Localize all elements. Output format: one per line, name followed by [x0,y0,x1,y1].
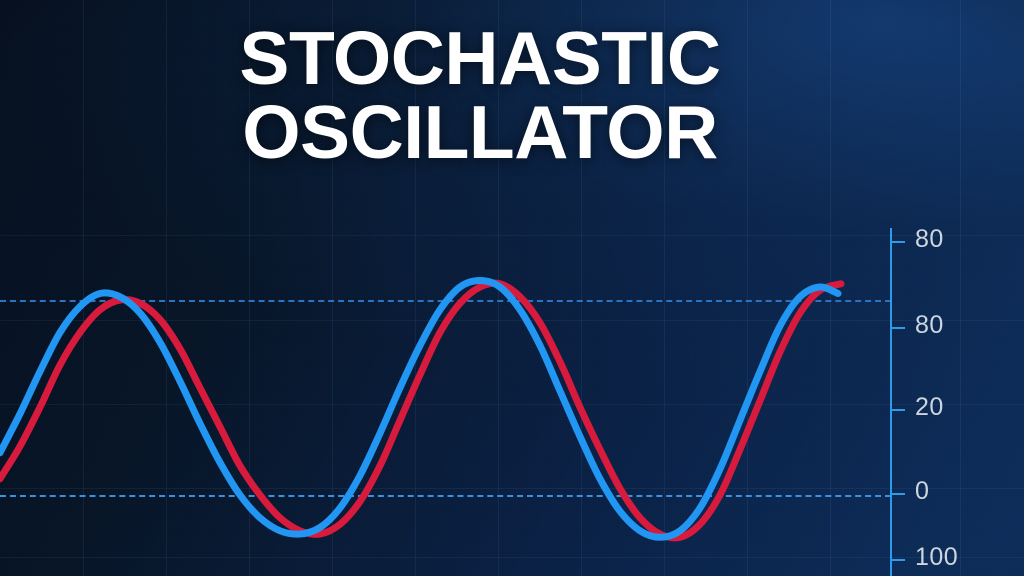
vignette-overlay [0,0,1024,576]
chart-canvas: STOCHASTIC OSCILLATOR 8080200100 [0,0,1024,576]
